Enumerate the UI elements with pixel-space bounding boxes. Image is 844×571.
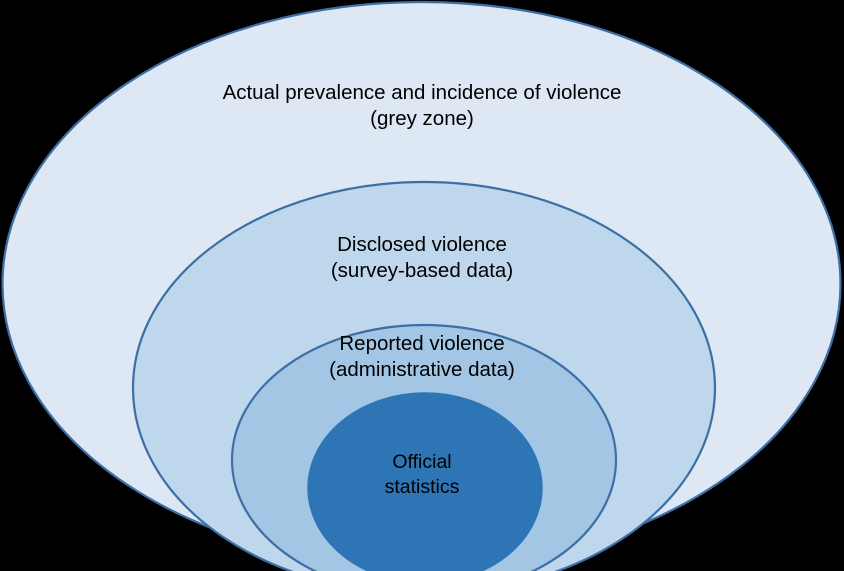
venn-diagram-canvas: Actual prevalence and incidence of viole…	[0, 0, 844, 571]
nested-ellipses-graphic	[0, 0, 844, 571]
ellipse-official-statistics[interactable]	[308, 393, 542, 571]
